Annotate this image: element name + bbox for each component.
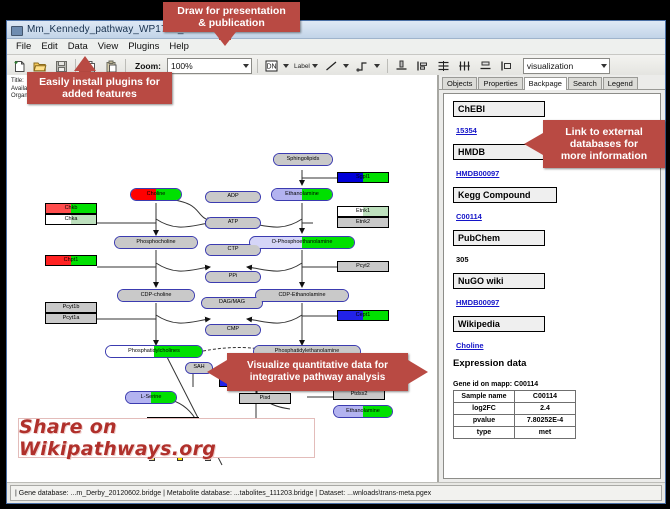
expr-value: met [515, 427, 576, 439]
db-link-wikipedia[interactable]: Choline [456, 341, 484, 350]
tab-backpage[interactable]: Backpage [524, 77, 567, 90]
node-label: Chka [64, 217, 79, 223]
align-left-icon[interactable] [414, 57, 432, 75]
align-bottom-icon[interactable] [393, 57, 411, 75]
callout-link-line1: Link to external [565, 126, 643, 138]
node-cdp-ethanolamine[interactable]: CDP-Ethanolamine [255, 289, 349, 302]
table-row: type met [454, 427, 576, 439]
status-bar: | Gene database: ...m_Derby_20120602.bri… [7, 482, 665, 503]
node-label: Pisd [259, 396, 272, 402]
connector-tool-icon[interactable] [354, 57, 372, 75]
expression-table: Sample name C00114 log2FC 2.4 pvalue 7.8… [453, 390, 576, 439]
db-header-chebi: ChEBI [453, 101, 545, 117]
line-tool-icon[interactable] [323, 57, 341, 75]
table-row: log2FC 2.4 [454, 403, 576, 415]
node-label: CMP [226, 327, 240, 333]
node-label: Chkb [64, 206, 79, 212]
node-choline-top[interactable]: Choline [130, 188, 182, 201]
chevron-down-icon[interactable] [374, 64, 380, 68]
share-wikipathways-text: Share on Wikipathways.org [19, 416, 314, 460]
node-label: Ptdss2 [350, 392, 369, 398]
menu-item-edit[interactable]: Edit [36, 40, 62, 53]
node-ppi[interactable]: PPi [205, 271, 261, 283]
callout-link: Link to external databases for more info… [543, 120, 665, 168]
db-link-chebi[interactable]: 15354 [456, 126, 477, 135]
label-tool-label[interactable]: Label [294, 63, 310, 70]
node-ethanolamine-top[interactable]: Ethanolamine [271, 188, 333, 201]
callout-draw: Draw for presentation & publication [163, 2, 300, 32]
node-pcyt2[interactable]: Pcyt2 [337, 261, 389, 272]
node-label: Pcyt1b [62, 305, 81, 311]
node-cept1[interactable]: Cept1 [337, 310, 389, 321]
toolbar-separator [257, 59, 258, 73]
tab-properties[interactable]: Properties [478, 77, 522, 89]
tab-objects[interactable]: Objects [442, 77, 477, 89]
menu-bar: File Edit Data View Plugins Help [7, 39, 665, 55]
chevron-down-icon [601, 64, 607, 68]
node-label: Cept1 [355, 313, 372, 319]
expression-data-heading: Expression data [453, 358, 660, 369]
node-label: Phosphocholine [135, 240, 176, 246]
node-label: Etnk2 [355, 220, 371, 226]
new-file-icon[interactable] [10, 57, 28, 75]
node-label: Ethanolamine [345, 409, 381, 415]
node-adp[interactable]: ADP [205, 191, 261, 203]
toolbar-separator [125, 59, 126, 73]
app-icon [11, 24, 22, 35]
node-etnk1[interactable]: Etnk1 [337, 206, 389, 217]
node-label: O-Phosphoethanolamine [271, 240, 334, 246]
menu-item-help[interactable]: Help [164, 40, 194, 53]
callout-draw-line1: Draw for presentation [177, 5, 286, 17]
db-link-nugo-wiki[interactable]: HMDB00097 [456, 298, 499, 307]
svg-text:DN: DN [267, 64, 277, 71]
callout-link-arrow [524, 133, 543, 155]
node-chpt1[interactable]: Chpt1 [45, 255, 97, 266]
expr-value: 7.80252E-4 [515, 415, 576, 427]
node-label: CDP-Ethanolamine [277, 293, 326, 299]
node-label: ATP [227, 220, 239, 226]
chevron-down-icon[interactable] [283, 64, 289, 68]
title-bar: Mm_Kennedy_pathway_WP1771_45176.gp [7, 21, 665, 39]
screenshot-root: Mm_Kennedy_pathway_WP1771_45176.gp File … [0, 0, 670, 509]
expr-value: 2.4 [515, 403, 576, 415]
expr-value: C00114 [515, 391, 576, 403]
node-label: CDP-choline [140, 293, 173, 299]
menu-item-view[interactable]: View [93, 40, 123, 53]
side-panel-tabs: Objects Properties Backpage Search Legen… [439, 75, 665, 90]
db-link-hmdb[interactable]: HMDB00097 [456, 169, 499, 178]
menu-item-data[interactable]: Data [63, 40, 93, 53]
node-phosphatidylcholines[interactable]: Phosphatidylcholines [105, 345, 203, 358]
node-atp[interactable]: ATP [205, 217, 261, 229]
menu-item-file[interactable]: File [11, 40, 36, 53]
node-cdp-choline[interactable]: CDP-choline [117, 289, 195, 302]
node-label: L-Serine [140, 395, 163, 401]
distribute-horizontal-icon[interactable] [456, 57, 474, 75]
db-header-kegg-compound: Kegg Compound [453, 187, 557, 203]
node-pisd[interactable]: Pisd [239, 393, 291, 404]
callout-visualize: Visualize quantitative data for integrat… [227, 353, 408, 391]
node-phosphocholine[interactable]: Phosphocholine [114, 236, 198, 249]
callout-plugins-arrow [74, 56, 96, 71]
node-sphingolipids[interactable]: Sphingolipids [273, 153, 333, 166]
node-pcyt1b[interactable]: Pcyt1b [45, 302, 97, 313]
node-label: Etnk1 [355, 209, 371, 215]
node-chkb[interactable]: Chkb [45, 203, 97, 214]
expr-key: Sample name [454, 391, 515, 403]
node-label: Choline [146, 192, 167, 198]
node-label: SAH [192, 365, 205, 371]
distribute-vertical-icon[interactable] [435, 57, 453, 75]
callout-visualize-arrow-right [408, 360, 428, 384]
callout-visualize-line2: integrative pathway analysis [250, 372, 386, 384]
callout-visualize-line1: Visualize quantitative data for [247, 360, 388, 372]
visualization-value: visualization [527, 61, 573, 71]
node-label: ADP [226, 194, 239, 200]
node-label: Pcyt2 [355, 264, 371, 270]
table-row: Sample name C00114 [454, 391, 576, 403]
callout-draw-arrow [214, 32, 236, 46]
node-o-phosphoethanolamine[interactable]: O-Phosphoethanolamine [249, 236, 355, 249]
expr-key: pvalue [454, 415, 515, 427]
node-pcyt1a[interactable]: Pcyt1a [45, 313, 97, 324]
callout-visualize-arrow-left [207, 360, 227, 384]
node-chka[interactable]: Chka [45, 214, 97, 225]
node-label: Sgpl1 [355, 175, 371, 181]
db-header-pubchem: PubChem [453, 230, 545, 246]
zoom-value: 100% [171, 61, 193, 71]
share-wikipathways-banner: Share on Wikipathways.org [18, 418, 315, 458]
db-value-pubchem: 305 [456, 255, 469, 264]
table-row: pvalue 7.80252E-4 [454, 415, 576, 427]
node-dagmag[interactable]: DAG/MAG [201, 297, 263, 309]
node-label: Sphingolipids [286, 157, 321, 163]
visualization-select[interactable]: visualization [523, 58, 610, 74]
node-label: PPi [228, 274, 239, 280]
node-label: DAG/MAG [218, 300, 246, 306]
menu-item-plugins[interactable]: Plugins [123, 40, 164, 53]
toolbar-separator [387, 59, 388, 73]
callout-link-line3: more information [561, 150, 647, 162]
expr-key: log2FC [454, 403, 515, 415]
group-icon[interactable] [498, 57, 516, 75]
tab-legend[interactable]: Legend [603, 77, 638, 89]
gene-id-line: Gene id on mapp: C00114 [453, 381, 660, 388]
chevron-down-icon[interactable] [312, 64, 318, 68]
node-label: Ethanolamine [284, 192, 320, 198]
callout-plugins: Easily install plugins for added feature… [27, 72, 172, 104]
node-l-serine-left[interactable]: L-Serine [125, 391, 177, 404]
status-text: | Gene database: ...m_Derby_20120602.bri… [10, 485, 662, 501]
node-cmp[interactable]: CMP [205, 324, 261, 336]
node-ctp[interactable]: CTP [205, 244, 261, 256]
datanode-icon[interactable]: DN [263, 57, 281, 75]
node-label: Pcyt1a [62, 316, 81, 322]
node-ethanolamine-bottom[interactable]: Ethanolamine [333, 405, 393, 418]
db-header-wikipedia: Wikipedia [453, 316, 545, 332]
zoom-select[interactable]: 100% [167, 58, 252, 74]
node-label: Chpt1 [63, 258, 80, 264]
zoom-label: Zoom: [135, 61, 161, 71]
stack-icon[interactable] [477, 57, 495, 75]
expr-key: type [454, 427, 515, 439]
node-etnk2[interactable]: Etnk2 [337, 217, 389, 228]
callout-plugins-line1: Easily install plugins for [39, 76, 160, 88]
node-sgpl1[interactable]: Sgpl1 [337, 172, 389, 183]
callout-link-line2: databases for [570, 138, 638, 150]
db-header-nugo-wiki: NuGO wiki [453, 273, 545, 289]
node-label: CTP [227, 247, 240, 253]
tab-search[interactable]: Search [568, 77, 602, 89]
chevron-down-icon [243, 64, 249, 68]
callout-plugins-line2: added features [62, 88, 137, 100]
node-label: Phosphatidylcholines [127, 349, 181, 355]
chevron-down-icon[interactable] [343, 64, 349, 68]
callout-draw-line2: & publication [198, 17, 265, 29]
db-link-kegg-compound[interactable]: C00114 [456, 212, 482, 221]
